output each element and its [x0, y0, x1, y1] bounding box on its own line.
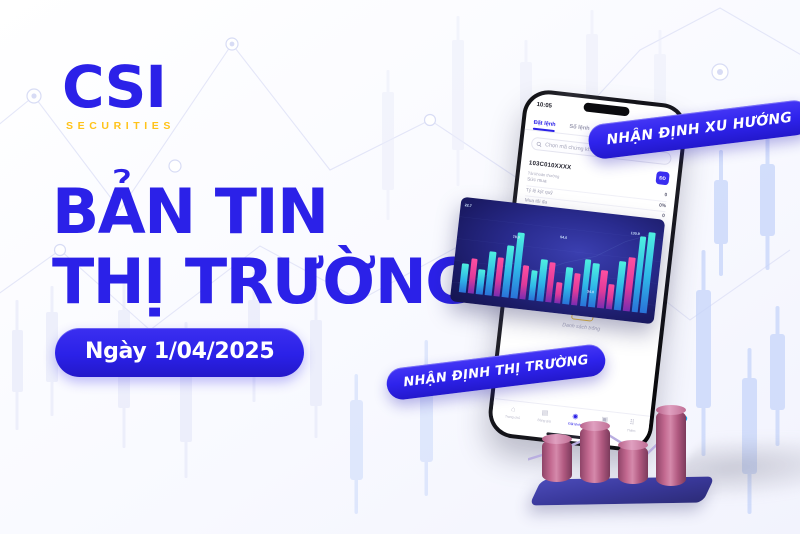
info-value: 0: [664, 193, 667, 198]
chart-label: 54.0: [560, 235, 567, 240]
info-value: 0: [662, 214, 665, 219]
cylinder-bar: [580, 426, 610, 483]
symbol-badge[interactable]: ĐD: [655, 171, 669, 185]
info-key: Tỷ lệ kýt quỹ: [526, 188, 553, 196]
cylinder-bar: [618, 445, 648, 484]
logo-tagline: SECURITIES: [66, 120, 175, 132]
symbol-code: 103C010XXXX: [529, 160, 572, 171]
info-value: 0%: [659, 203, 666, 209]
chart-label: 130.9: [631, 231, 640, 236]
nav-label: Trang chủ: [505, 414, 520, 420]
newsletter-banner: CSI SECURITIES BẢN TIN THỊ TRƯỜNG Ngày 1…: [0, 0, 800, 534]
search-icon: [536, 141, 543, 148]
date-badge: Ngày 1/04/2025: [55, 328, 304, 377]
home-icon: ⌂: [511, 406, 516, 413]
chart-bar: [554, 282, 563, 304]
logo-wordmark: CSI: [62, 58, 175, 116]
chart-bar: [476, 269, 485, 295]
chart-bar: [606, 284, 615, 310]
chart-label: 34.0: [587, 289, 594, 294]
headline-line-2: THỊ TRƯỜNG: [52, 248, 482, 316]
cylinder-bar: [542, 439, 572, 482]
tab-so-lenh[interactable]: Sổ lệnh: [569, 123, 590, 131]
page-title: BẢN TIN THỊ TRƯỜNG: [52, 178, 482, 316]
nav-item-trang-chu[interactable]: ⌂ Trang chủ: [505, 406, 521, 420]
cylinder-bar: [656, 410, 686, 486]
status-time: 10:05: [536, 102, 552, 110]
chart-label: 22.7: [465, 203, 472, 208]
tab-dat-lenh[interactable]: Đặt lệnh: [533, 119, 556, 127]
info-key: Sức mua: [527, 178, 547, 185]
brand-logo: CSI SECURITIES: [62, 58, 175, 132]
chart-label: 78.9: [513, 234, 520, 239]
bar-chart-3d: [528, 404, 738, 516]
headline-line-1: BẢN TIN: [52, 178, 482, 246]
